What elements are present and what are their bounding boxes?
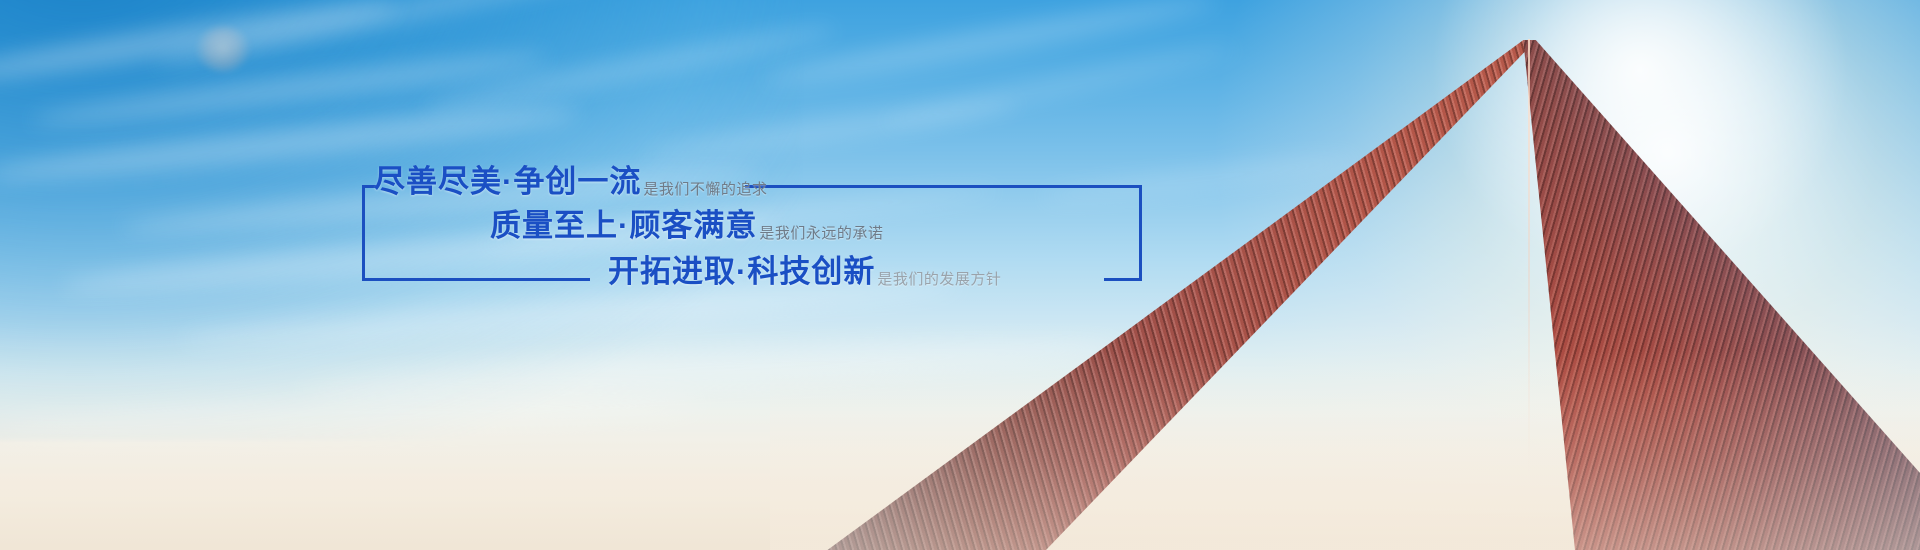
bracket-bottom-left-rule [362,278,590,281]
slogan-3-headline: 开拓进取 [608,254,736,289]
bracket-bottom-right-stub [1104,278,1142,281]
slogan-2-subtext: 是我们永远的承诺 [759,225,883,242]
slogan-1-headline2: 争创一流 [513,164,641,199]
hero-banner: 尽善尽美·争创一流是我们不懈的追求 质量至上·顾客满意是我们永远的承诺 开拓进取… [0,0,1920,550]
bracket-top-right-rule [745,185,1142,188]
slogan-1-separator: · [502,164,513,199]
slogan-2-separator: · [618,208,629,243]
slogan-line-3: 开拓进取·科技创新是我们的发展方针 [608,256,1001,287]
slogan-2-headline2: 顾客满意 [629,208,757,243]
slogan-1-headline: 尽善尽美 [374,164,502,199]
building-apex-edge [1528,39,1530,550]
slogan-block: 尽善尽美·争创一流是我们不懈的追求 质量至上·顾客满意是我们永远的承诺 开拓进取… [362,126,1152,286]
slogan-2-headline: 质量至上 [490,208,618,243]
slogan-3-separator: · [736,254,747,289]
bracket-right-edge [1139,185,1142,281]
slogan-1-subtext: 是我们不懈的追求 [643,181,767,198]
slogan-line-2: 质量至上·顾客满意是我们永远的承诺 [490,210,883,241]
slogan-3-subtext: 是我们的发展方针 [877,271,1001,288]
slogan-3-headline2: 科技创新 [747,254,875,289]
slogan-line-1: 尽善尽美·争创一流是我们不懈的追求 [374,166,767,197]
bracket-left-edge [362,185,365,281]
